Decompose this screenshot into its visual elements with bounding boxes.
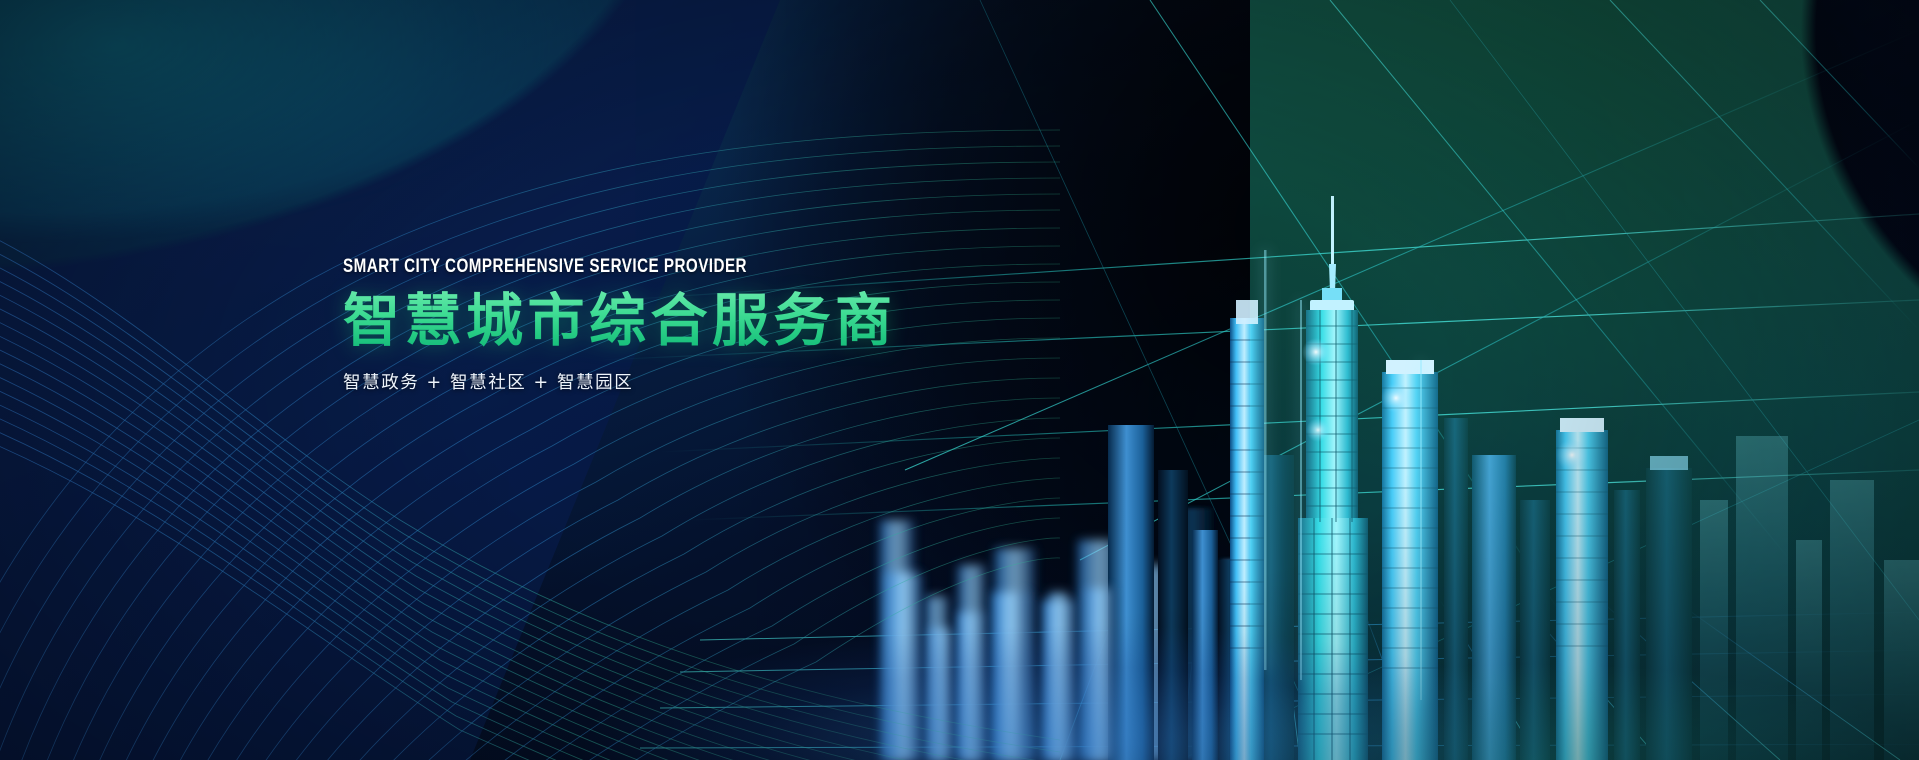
page-title: 智慧城市综合服务商 (343, 291, 1163, 353)
smart-city-banner: SMART CITY COMPREHENSIVE SERVICE PROVIDE… (0, 0, 1919, 760)
main-tower (1298, 196, 1368, 760)
english-tagline: SMART CITY COMPREHENSIVE SERVICE PROVIDE… (343, 255, 983, 278)
subtitle: 智慧政务 + 智慧社区 + 智慧园区 (343, 369, 1163, 394)
headline-text-block: SMART CITY COMPREHENSIVE SERVICE PROVIDE… (343, 255, 1163, 394)
